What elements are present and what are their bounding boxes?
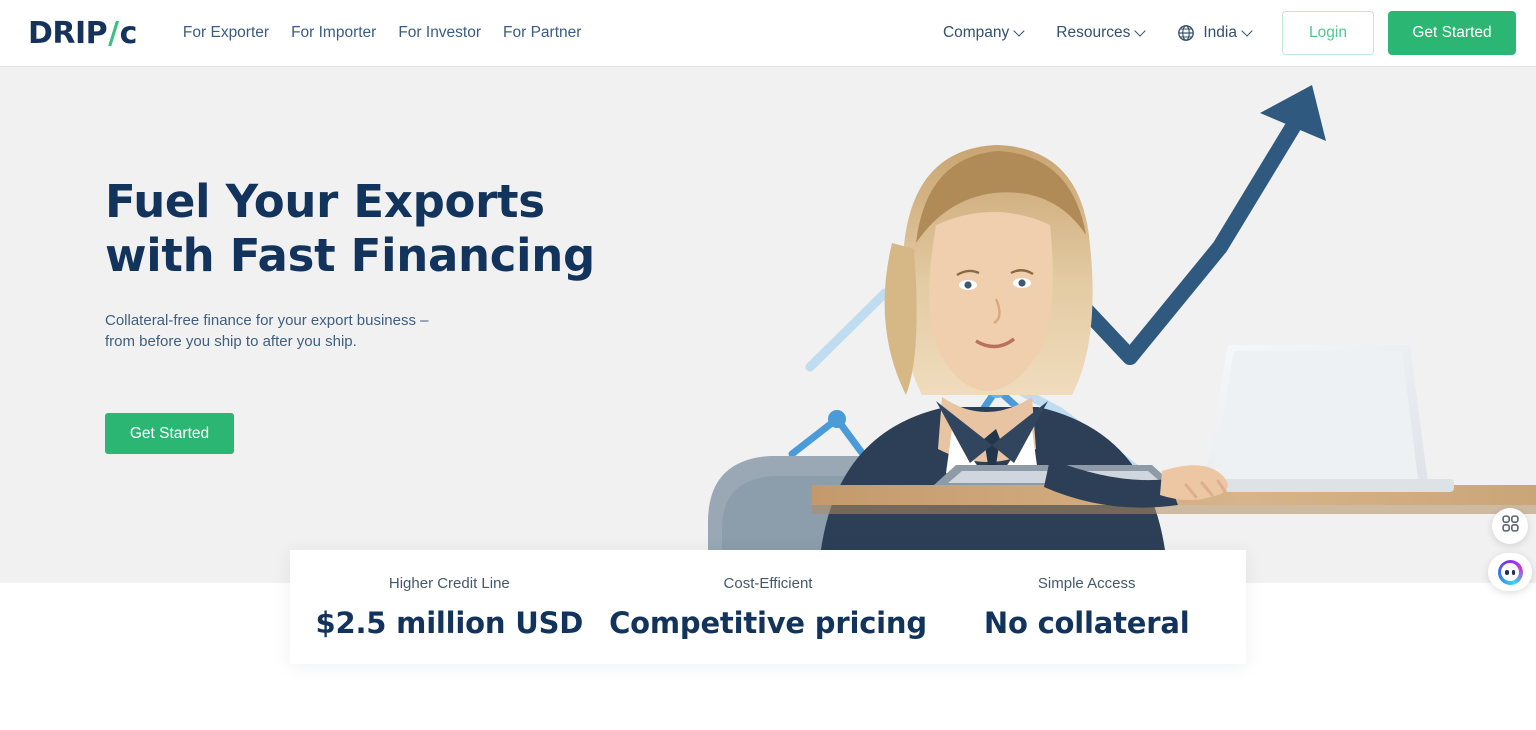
nav-item-for-partner[interactable]: For Partner bbox=[497, 20, 587, 46]
stat-item-higher-credit-line: Higher Credit Line $2.5 million USD bbox=[290, 575, 609, 640]
nav-dropdown-resources-label: Resources bbox=[1056, 24, 1130, 42]
stat-item-simple-access: Simple Access No collateral bbox=[927, 575, 1246, 640]
chatbot-face bbox=[1501, 563, 1519, 581]
floating-widget-stack bbox=[1488, 508, 1532, 591]
primary-nav: For Exporter For Importer For Investor F… bbox=[177, 20, 588, 46]
logo-slash: / bbox=[107, 16, 119, 51]
stat-value: $2.5 million USD bbox=[290, 606, 609, 640]
chatbot-avatar-icon bbox=[1498, 560, 1523, 585]
region-label: India bbox=[1203, 24, 1237, 42]
login-button[interactable]: Login bbox=[1282, 11, 1374, 55]
grid-apps-icon bbox=[1502, 515, 1519, 537]
hero-subtitle-line-2: from before you ship to after you ship. bbox=[105, 331, 665, 352]
brand-logo[interactable]: DRIP/c bbox=[28, 16, 137, 51]
hero-title-line-2: with Fast Financing bbox=[105, 229, 665, 283]
stat-item-cost-efficient: Cost-Efficient Competitive pricing bbox=[609, 575, 928, 640]
stat-value: No collateral bbox=[927, 606, 1246, 640]
stat-label: Simple Access bbox=[927, 575, 1246, 592]
nav-item-for-exporter[interactable]: For Exporter bbox=[177, 20, 275, 46]
stats-card: Higher Credit Line $2.5 million USD Cost… bbox=[290, 550, 1246, 664]
nav-dropdown-company-label: Company bbox=[943, 24, 1009, 42]
hero-title-line-1: Fuel Your Exports bbox=[105, 175, 665, 229]
stat-label: Higher Credit Line bbox=[290, 575, 609, 592]
chatbot-eye-left bbox=[1505, 570, 1508, 575]
chevron-down-icon bbox=[1015, 27, 1024, 36]
chat-widget-button[interactable] bbox=[1488, 553, 1532, 591]
hero-title: Fuel Your Exports with Fast Financing bbox=[105, 175, 665, 283]
site-header: DRIP/c For Exporter For Importer For Inv… bbox=[0, 0, 1536, 67]
chatbot-eye-right bbox=[1512, 570, 1515, 575]
stat-value: Competitive pricing bbox=[609, 606, 928, 640]
hero-illustration bbox=[700, 67, 1536, 583]
logo-suffix-text: c bbox=[120, 16, 137, 51]
region-selector[interactable]: India bbox=[1161, 18, 1268, 48]
hero-subtitle: Collateral-free finance for your export … bbox=[105, 310, 665, 352]
chevron-down-icon bbox=[1243, 27, 1252, 36]
nav-dropdown-company[interactable]: Company bbox=[927, 18, 1040, 48]
logo-main-text: DRIP bbox=[28, 16, 107, 51]
globe-icon bbox=[1177, 24, 1195, 42]
get-started-button-hero[interactable]: Get Started bbox=[105, 413, 234, 454]
chevron-down-icon bbox=[1136, 27, 1145, 36]
secondary-nav: Company Resources India bbox=[927, 11, 1516, 55]
hero-subtitle-line-1: Collateral-free finance for your export … bbox=[105, 310, 665, 331]
stat-label: Cost-Efficient bbox=[609, 575, 928, 592]
nav-item-for-importer[interactable]: For Importer bbox=[285, 20, 382, 46]
get-started-button-header[interactable]: Get Started bbox=[1388, 11, 1516, 55]
hero-copy: Fuel Your Exports with Fast Financing Co… bbox=[105, 175, 665, 454]
hero-section: Fuel Your Exports with Fast Financing Co… bbox=[0, 67, 1536, 583]
nav-dropdown-resources[interactable]: Resources bbox=[1040, 18, 1161, 48]
landing-page: DRIP/c For Exporter For Importer For Inv… bbox=[0, 0, 1536, 730]
apps-launcher-button[interactable] bbox=[1492, 508, 1528, 544]
nav-item-for-investor[interactable]: For Investor bbox=[392, 20, 487, 46]
